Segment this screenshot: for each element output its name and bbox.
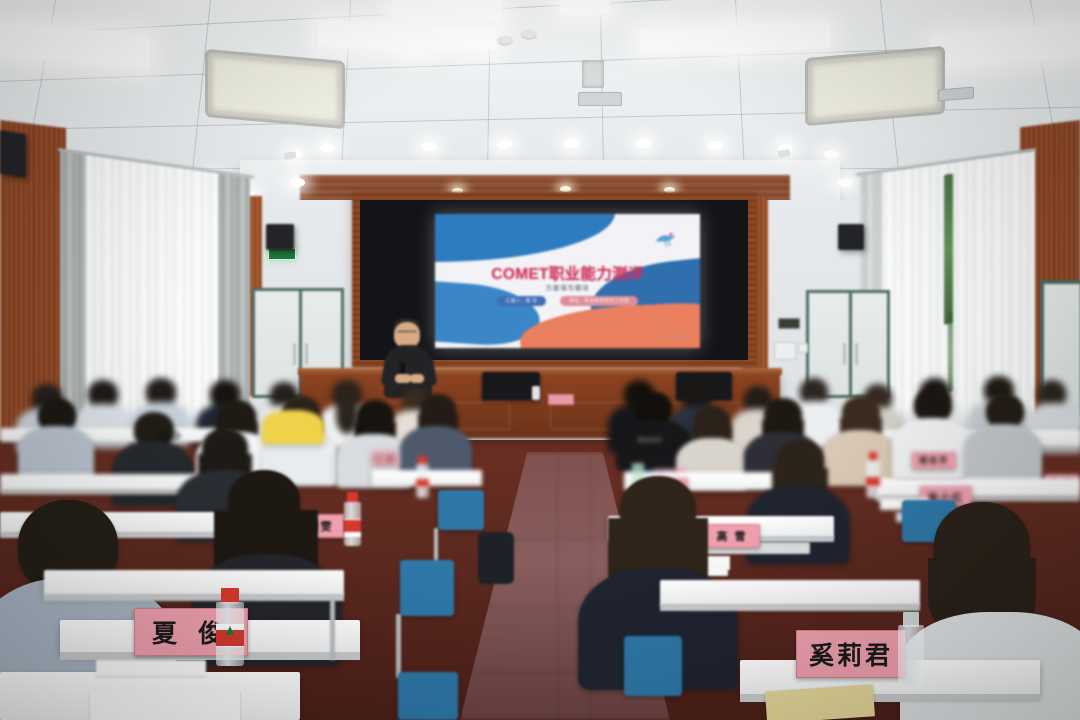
namecard: 储佳芳 <box>912 452 956 469</box>
slide-orange-shape <box>519 301 700 348</box>
water-bottle <box>216 588 244 666</box>
desk-mid-left <box>44 570 344 596</box>
presentation-slide: COMET职业能力测评 方案填写模块 汇报人：唐 军 单位：职业教育研究工作室 … <box>435 214 700 348</box>
av-control-plate <box>778 318 800 329</box>
attendee <box>400 394 472 476</box>
smoke-detector-icon <box>522 30 536 38</box>
slide-pill-unit: 单位：职业教育研究工作室 <box>560 296 638 306</box>
ceiling-vent <box>578 92 622 106</box>
recessed-downlight <box>497 140 512 149</box>
wall-speaker-right-stage <box>838 224 864 250</box>
ceiling-panel-light <box>560 0 610 14</box>
ac-cassette-unit <box>205 49 345 129</box>
window-foliage <box>944 174 953 325</box>
chair <box>398 672 458 720</box>
wall-speaker-left-stage <box>266 224 294 250</box>
water-bottle <box>866 452 880 498</box>
socket-panel <box>798 343 808 353</box>
water-bottle <box>416 456 429 498</box>
conference-room-photo: COMET职业能力测评 方案填写模块 汇报人：唐 军 单位：职业教育研究工作室 … <box>0 0 1080 720</box>
recessed-downlight <box>320 143 335 152</box>
slide-pill-presenter: 汇报人：唐 军 <box>497 296 547 306</box>
handout-paper <box>96 660 206 676</box>
smoke-detector-icon <box>498 36 512 44</box>
bird-logo-icon <box>652 230 678 250</box>
slide-pill-row: 汇报人：唐 军 单位：职业教育研究工作室 <box>435 296 700 306</box>
ceiling-speaker-box <box>582 60 604 88</box>
slide-blue-shape-top <box>435 214 615 262</box>
chair-frame <box>396 614 401 678</box>
recessed-downlight <box>636 139 651 148</box>
handout-paper <box>90 690 240 720</box>
backpack <box>478 532 514 584</box>
ceiling-panel-light <box>392 0 502 20</box>
recessed-downlight <box>290 178 305 187</box>
wall-speaker-left-rear <box>0 130 26 178</box>
chair <box>624 636 682 696</box>
desk-edge <box>44 594 344 601</box>
recessed-downlight <box>824 150 839 159</box>
water-bottle <box>898 612 924 686</box>
recessed-downlight <box>838 178 853 187</box>
desk-row3-far-right <box>876 478 1080 498</box>
podium-namecard <box>548 394 574 405</box>
namecard-ximujun: 奚莉君 <box>796 630 906 678</box>
podium-cup <box>532 386 540 400</box>
water-bottle <box>344 492 361 546</box>
chair <box>400 560 454 616</box>
handout-booklet <box>765 684 875 720</box>
namecard: 王 丽 <box>372 452 398 465</box>
desk-edge <box>660 604 920 611</box>
ac-cassette-unit <box>805 46 945 126</box>
slide-subtitle: 方案填写模块 <box>435 282 700 292</box>
attendee <box>964 394 1042 482</box>
recessed-downlight <box>422 142 437 151</box>
ceiling-panel-light <box>400 26 496 50</box>
slide-title: COMET职业能力测评 <box>435 262 700 284</box>
attendee <box>18 398 94 478</box>
presenter <box>380 318 438 398</box>
desk-leg <box>330 598 335 660</box>
chair <box>438 490 484 530</box>
desk-mid-right <box>660 580 920 606</box>
recessed-downlight <box>564 139 579 148</box>
slide-footer-date: 2023·10月 <box>666 334 688 340</box>
ceiling-panel-light <box>725 22 830 52</box>
light-switch-panel <box>774 342 796 360</box>
recessed-downlight <box>708 141 723 150</box>
